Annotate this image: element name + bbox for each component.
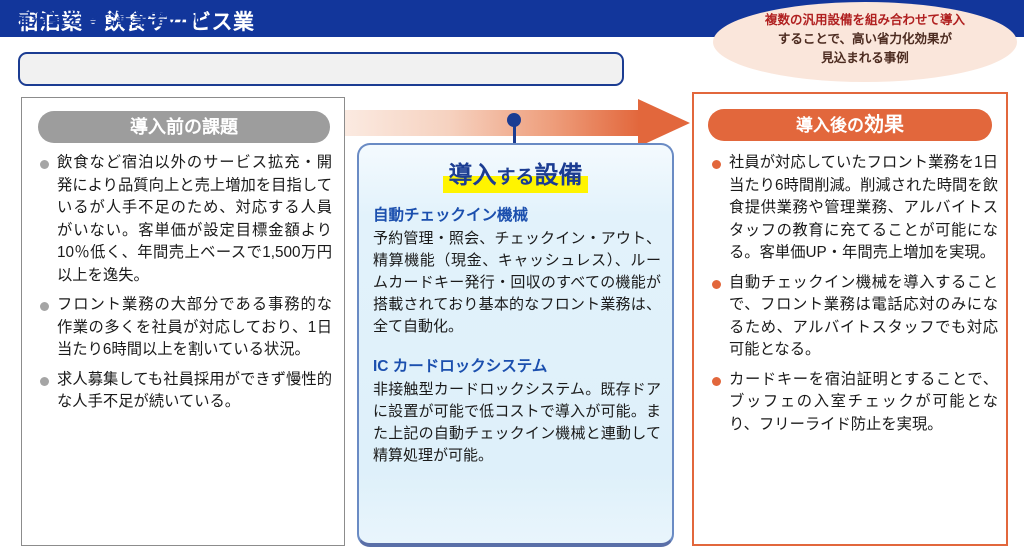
badge-before-issues: 導入前の課題 bbox=[38, 111, 330, 143]
before-issues-list: 飲食など宿泊以外のサービス拡充・開発により品質向上と売上増加を目指しているが人手… bbox=[38, 152, 332, 421]
list-item: フロント業務の大部分である事務的な作業の多くを社員が対応しており、1日当たり6時… bbox=[38, 294, 332, 362]
equipment-title-text: 導入する設備 bbox=[448, 162, 582, 189]
list-item: カードキーを宿泊証明とすることで、ブッフェの入室チェックが可能となり、フリーライ… bbox=[710, 369, 998, 437]
arrow-body bbox=[345, 110, 640, 136]
equipment-title-part2: する bbox=[496, 167, 534, 188]
subheader-title: 宿泊業を営む事業者の例 bbox=[14, 5, 201, 30]
badge-after-effects-part1: 導入後の bbox=[796, 116, 864, 135]
list-item: 社員が対応していたフロント業務を1日当たり6時間削減。削減された時間を飲食提供業… bbox=[710, 152, 998, 265]
badge-before-issues-label: 導入前の課題 bbox=[38, 111, 330, 143]
panel-equipment: 導入する設備 自動チェックイン機械 予約管理・照会、チェックイン・アウト、精算機… bbox=[357, 143, 674, 547]
callout-line-1: 複数の汎用設備を組み合わせて導入 bbox=[713, 11, 1017, 30]
badge-after-effects-label: 導入後の効果 bbox=[708, 109, 992, 142]
list-item: 飲食など宿泊以外のサービス拡充・開発により品質向上と売上増加を目指しているが人手… bbox=[38, 152, 332, 287]
badge-after-effects-part2: 効果 bbox=[864, 114, 904, 136]
equipment-title-part3: 設備 bbox=[535, 162, 583, 189]
equipment-name: IC カードロックシステム bbox=[373, 356, 661, 378]
subheader-box bbox=[18, 52, 624, 86]
list-item: 求人募集しても社員採用ができず慢性的な人手不足が続いている。 bbox=[38, 369, 332, 414]
callout-line-2: することで、高い省力化効果が bbox=[713, 30, 1017, 49]
equipment-description: 予約管理・照会、チェックイン・アウト、精算機能（現金、キャッシュレス）、ルームカ… bbox=[373, 228, 661, 338]
panel-after-effects: 導入後の効果 社員が対応していたフロント業務を1日当たり6時間削減。削減された時… bbox=[692, 92, 1008, 546]
equipment-title-part1: 導入 bbox=[448, 162, 496, 189]
arrow-head bbox=[638, 99, 690, 147]
callout-text: 複数の汎用設備を組み合わせて導入 することで、高い省力化効果が 見込まれる事例 bbox=[713, 11, 1017, 68]
list-item: 自動チェックイン機械を導入することで、フロント業務は電話応対のみになるため、アル… bbox=[710, 272, 998, 362]
equipment-title-wrap: 導入する設備 bbox=[359, 161, 672, 194]
badge-after-effects: 導入後の効果 bbox=[708, 109, 992, 141]
callout-line-3: 見込まれる事例 bbox=[713, 49, 1017, 68]
equipment-name: 自動チェックイン機械 bbox=[373, 205, 661, 227]
after-effects-list: 社員が対応していたフロント業務を1日当たり6時間削減。削減された時間を飲食提供業… bbox=[710, 152, 998, 443]
equipment-description: 非接触型カードロックシステム。既存ドアに設置が可能で低コストで導入が可能。また上… bbox=[373, 379, 661, 467]
equipment-title: 導入する設備 bbox=[443, 161, 587, 194]
panel-before-issues: 導入前の課題 飲食など宿泊以外のサービス拡充・開発により品質向上と売上増加を目指… bbox=[21, 97, 345, 546]
pin-dot-icon bbox=[507, 113, 521, 127]
equipment-body: 自動チェックイン機械 予約管理・照会、チェックイン・アウト、精算機能（現金、キャ… bbox=[373, 205, 661, 467]
